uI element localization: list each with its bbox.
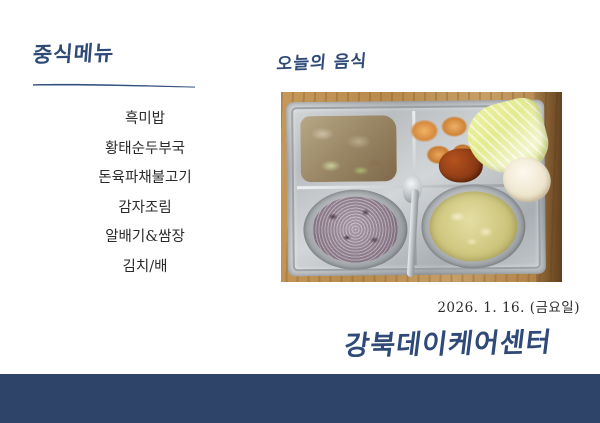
- menu-item: 돈육파채불고기: [0, 171, 290, 201]
- pollack-tofu-soup: [429, 191, 518, 262]
- lunch-menu-heading: 중식메뉴: [32, 37, 116, 69]
- menu-item: 황태순두부국: [0, 142, 290, 172]
- pork-bulgogi-portion: [300, 115, 397, 182]
- lunch-tray-photo: [281, 92, 562, 282]
- menu-item: 감자조림: [0, 201, 290, 231]
- black-rice: [312, 196, 399, 263]
- daycare-center-name: 강북데이케어센터: [342, 320, 554, 363]
- menu-date: 2026. 1. 16. (금요일): [437, 296, 580, 316]
- stainless-steel-tray: [286, 100, 546, 277]
- menu-item-list: 흑미밥 황태순두부국 돈육파채불고기 감자조림 알배기&쌈장 김치/배: [0, 112, 290, 289]
- heading-underline-stroke: [33, 83, 195, 88]
- menu-item: 흑미밥: [0, 112, 290, 142]
- todays-food-heading: 오늘의 음식: [276, 46, 369, 74]
- lunch-menu-poster: 중식메뉴 흑미밥 황태순두부국 돈육파채불고기 감자조림 알배기&쌈장 김치/배…: [0, 0, 600, 423]
- menu-item: 알배기&쌈장: [0, 230, 290, 260]
- bottom-accent-bar: [0, 374, 600, 423]
- menu-item: 김치/배: [0, 260, 290, 290]
